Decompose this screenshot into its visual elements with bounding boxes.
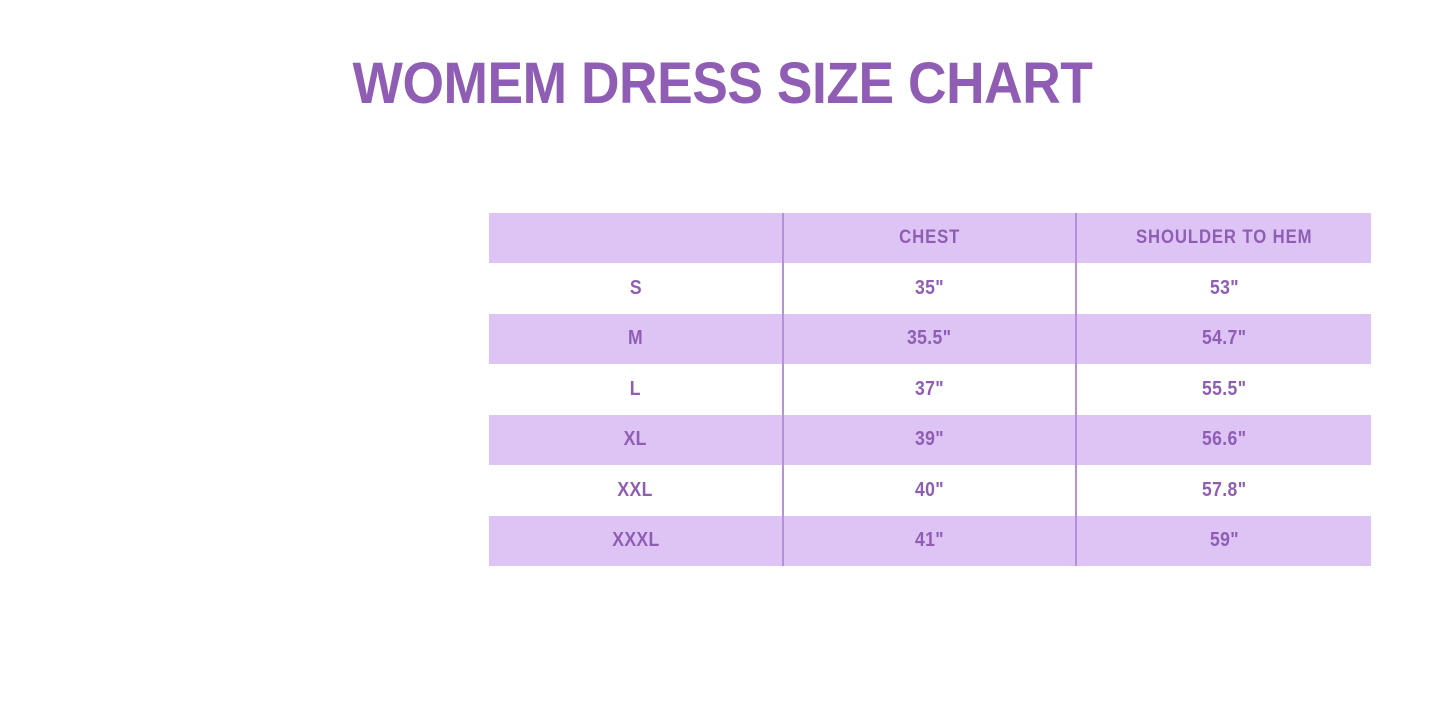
- cell-size: L: [489, 364, 783, 415]
- cell-chest-value: 35": [915, 277, 944, 300]
- table-row: XXXL 41" 59": [489, 516, 1371, 567]
- cell-size-label: XXXL: [612, 529, 659, 552]
- cell-chest-value: 35.5": [907, 327, 951, 350]
- cell-shoulder-to-hem: 59": [1076, 516, 1371, 567]
- table-row: M 35.5" 54.7": [489, 314, 1371, 365]
- cell-chest-value: 39": [915, 428, 944, 451]
- cell-size-label: S: [629, 277, 641, 300]
- cell-shoulder-to-hem: 56.6": [1076, 415, 1371, 466]
- cell-size-label: XXL: [618, 479, 653, 502]
- cell-shoulder-to-hem: 53": [1076, 263, 1371, 314]
- cell-chest-value: 37": [915, 378, 944, 401]
- table-row: L 37" 55.5": [489, 364, 1371, 415]
- cell-chest: 40": [783, 465, 1076, 516]
- cell-chest: 35.5": [783, 314, 1076, 365]
- cell-size-label: M: [628, 327, 643, 350]
- cell-shoulder-to-hem-value: 56.6": [1202, 428, 1246, 451]
- size-chart-table: CHEST SHOULDER TO HEM S 35" 53" M 35.5" …: [489, 213, 1371, 566]
- column-header-chest-label: CHEST: [899, 227, 960, 249]
- column-header-shoulder-to-hem-label: SHOULDER TO HEM: [1136, 227, 1312, 249]
- cell-chest-value: 40": [915, 479, 944, 502]
- cell-size: M: [489, 314, 783, 365]
- page-title: WOMEM DRESS SIZE CHART: [58, 55, 1387, 113]
- cell-shoulder-to-hem-value: 55.5": [1202, 378, 1246, 401]
- column-header-chest: CHEST: [783, 213, 1076, 263]
- cell-chest: 39": [783, 415, 1076, 466]
- cell-size: XXXL: [489, 516, 783, 567]
- cell-size: XL: [489, 415, 783, 466]
- cell-size-label: L: [630, 378, 641, 401]
- header-row: CHEST SHOULDER TO HEM: [489, 213, 1371, 263]
- cell-size-label: XL: [624, 428, 647, 451]
- cell-size: XXL: [489, 465, 783, 516]
- cell-shoulder-to-hem: 55.5": [1076, 364, 1371, 415]
- table-body: S 35" 53" M 35.5" 54.7" L 37" 55.5" XL 3…: [489, 263, 1371, 566]
- cell-shoulder-to-hem-value: 53": [1210, 277, 1239, 300]
- cell-size: S: [489, 263, 783, 314]
- cell-chest-value: 41": [915, 529, 944, 552]
- cell-shoulder-to-hem-value: 57.8": [1202, 479, 1246, 502]
- column-header-shoulder-to-hem: SHOULDER TO HEM: [1076, 213, 1371, 263]
- cell-shoulder-to-hem-value: 54.7": [1202, 327, 1246, 350]
- table-row: XXL 40" 57.8": [489, 465, 1371, 516]
- table-row: S 35" 53": [489, 263, 1371, 314]
- cell-chest: 41": [783, 516, 1076, 567]
- column-header-size: [489, 213, 783, 263]
- cell-shoulder-to-hem-value: 59": [1210, 529, 1239, 552]
- cell-shoulder-to-hem: 54.7": [1076, 314, 1371, 365]
- table-header: CHEST SHOULDER TO HEM: [489, 213, 1371, 263]
- cell-chest: 37": [783, 364, 1076, 415]
- cell-chest: 35": [783, 263, 1076, 314]
- table-row: XL 39" 56.6": [489, 415, 1371, 466]
- cell-shoulder-to-hem: 57.8": [1076, 465, 1371, 516]
